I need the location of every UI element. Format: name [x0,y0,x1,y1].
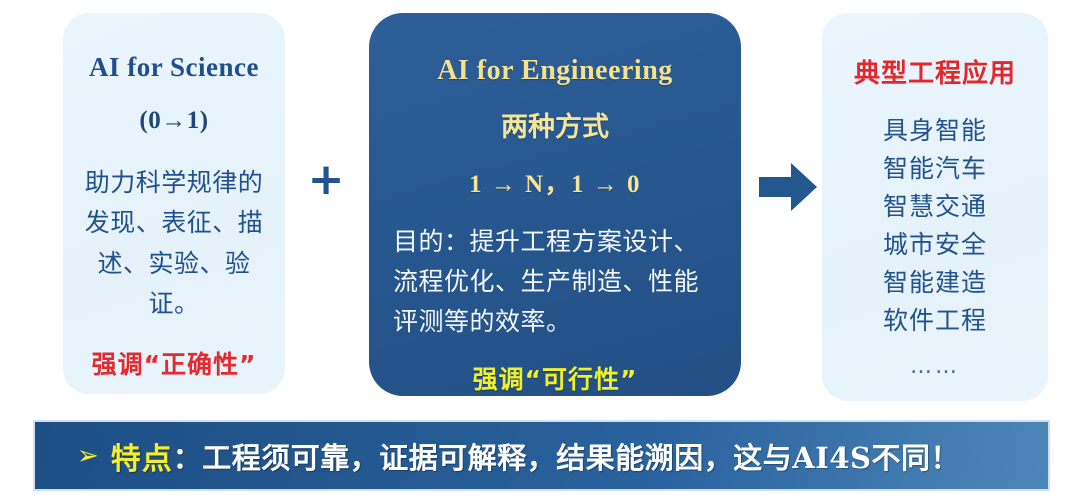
applications-list: 具身智能 智能汽车 智慧交通 城市安全 智能建造 软件工程 [832,112,1038,340]
list-item: 智慧交通 [832,188,1038,226]
applications-ellipsis: …… [832,354,1038,379]
list-item: 具身智能 [832,112,1038,150]
engineering-formula: 1 → N，1 → 0 [385,164,725,200]
science-title: AI for Science [75,53,273,83]
arrow-bullet-icon: ➢ [77,443,99,469]
banner-keyword: 特点 [111,434,173,478]
plus-icon: + [305,160,347,202]
card-ai-for-engineering: AI for Engineering 两种方式 1 → N，1 → 0 目的：提… [369,13,741,396]
list-item: 软件工程 [832,302,1038,340]
list-item: 智能建造 [832,264,1038,302]
engineering-body-text: 目的：提升工程方案设计、流程优化、生产制造、性能评测等的效率。 [385,222,725,342]
banner-text: ：工程须可靠，证据可解释，结果能溯因，这与AI4S不同！ [173,435,960,477]
science-body-text: 助力科学规律的发现、表征、描述、实验、验证。 [75,163,273,325]
engineering-title: AI for Engineering [385,55,725,87]
diagram-canvas: AI for Science (0→1) 助力科学规律的发现、表征、描述、实验、… [0,0,1080,503]
list-item: 智能汽车 [832,150,1038,188]
list-item: 城市安全 [832,226,1038,264]
science-subtitle: (0→1) [75,107,273,135]
right-arrow-icon [757,158,819,216]
engineering-subtitle: 两种方式 [385,105,725,144]
science-emphasis-text: 强调“正确性” [75,345,273,381]
card-typical-applications: 典型工程应用 具身智能 智能汽车 智慧交通 城市安全 智能建造 软件工程 …… [822,13,1048,401]
summary-banner: ➢ 特点 ：工程须可靠，证据可解释，结果能溯因，这与AI4S不同！ [33,420,1050,491]
card-ai-for-science: AI for Science (0→1) 助力科学规律的发现、表征、描述、实验、… [63,13,285,394]
engineering-emphasis-text: 强调“可行性” [385,360,725,396]
applications-title: 典型工程应用 [832,53,1038,90]
